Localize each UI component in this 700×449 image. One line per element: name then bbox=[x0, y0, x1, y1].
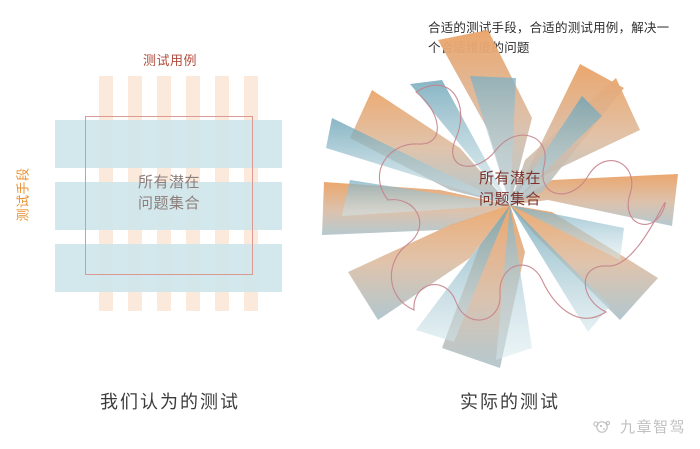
left-side-axis-label: 测试手段 bbox=[13, 155, 32, 235]
left-panel-idealized-testing: 测试用例 测试手段 所有潜在 问题集合 我们认为的测试 bbox=[0, 0, 340, 449]
left-center-label-line2: 问题集合 bbox=[85, 193, 253, 214]
watermark-label: 九章智驾 bbox=[620, 416, 686, 437]
left-center-label-line1: 所有潜在 bbox=[85, 172, 253, 193]
right-panel-actual-testing: 合适的测试手段，合适的测试用例，解决一个合适维度的问题 bbox=[320, 0, 700, 449]
right-panel-caption: 实际的测试 bbox=[320, 388, 700, 414]
left-center-label: 所有潜在 问题集合 bbox=[85, 172, 253, 214]
radial-burst-graphic bbox=[320, 30, 700, 375]
figure-canvas: 测试用例 测试手段 所有潜在 问题集合 我们认为的测试 合适的测试手段，合适的测… bbox=[0, 0, 700, 449]
watermark: 九章智驾 bbox=[591, 416, 686, 437]
left-top-axis-label: 测试用例 bbox=[110, 50, 230, 69]
left-panel-caption: 我们认为的测试 bbox=[0, 388, 340, 414]
logo-icon bbox=[591, 419, 613, 435]
